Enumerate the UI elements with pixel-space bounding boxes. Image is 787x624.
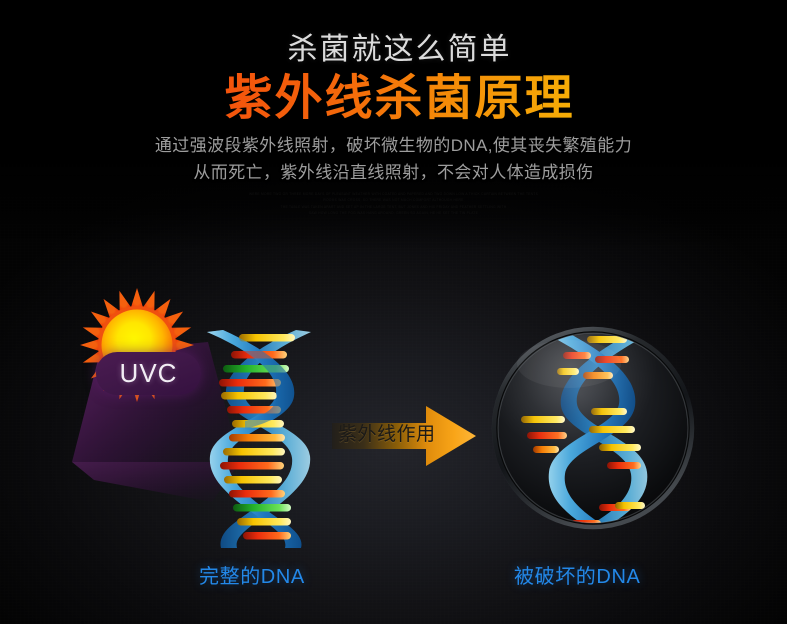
dna-helix-broken-in-sphere-icon: [487, 322, 699, 534]
caption-intact-dna: 完整的DNA: [199, 560, 305, 589]
subtitle-line-1: 通过强波段紫外线照射，破坏微生物的DNA,使其丧失繁殖能力: [0, 133, 787, 159]
caption-damaged-dna: 被破坏的DNA: [514, 560, 640, 589]
dna-helix-icon: [193, 328, 329, 550]
header-block: 杀菌就这么简单 紫外线杀菌原理 通过强波段紫外线照射，破坏微生物的DNA,使其丧…: [0, 34, 787, 217]
uvc-label-text: UVC: [96, 357, 201, 388]
arrow-label: 紫外线作用: [338, 419, 442, 446]
kicker-text: 杀菌就这么简单: [12, 34, 787, 66]
fineprint-line: SAW HOW LONG THE FOG WAS HANG AROUND, GR…: [0, 210, 787, 216]
page-title: 紫外线杀菌原理: [12, 72, 787, 126]
promo-banner: 杀菌就这么简单 紫外线杀菌原理 通过强波段紫外线照射，破坏微生物的DNA,使其丧…: [0, 0, 787, 624]
fineprint-block: WERE MORE TWO OR THREE MORE DAYS OF PLEA…: [0, 191, 787, 217]
subtitle-line-2: 从而死亡，紫外线沿直线照射，不会对人体造成损伤: [0, 160, 787, 186]
subtitle-text: 通过强波段紫外线照射，破坏微生物的DNA,使其丧失繁殖能力 从而死亡，紫外线沿直…: [0, 133, 787, 186]
uvc-label: UVC: [96, 352, 201, 395]
